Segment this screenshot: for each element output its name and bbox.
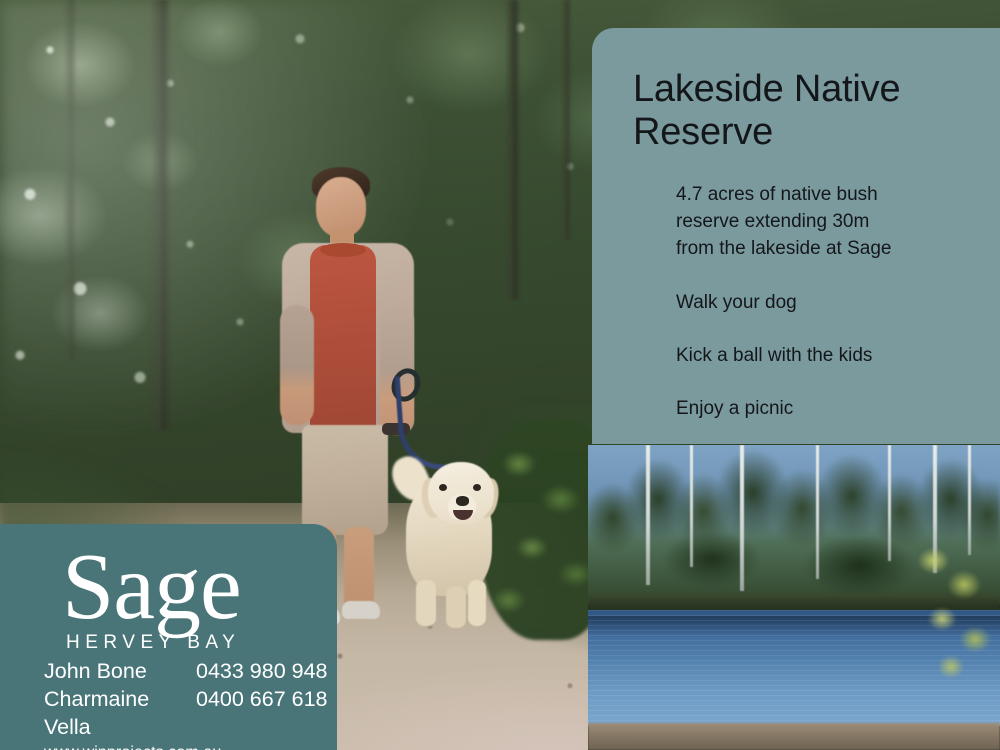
gum-tree-trunk: [646, 445, 650, 585]
dog-leg: [446, 586, 466, 628]
feature-item-description: 4.7 acres of native bush reserve extendi…: [676, 181, 936, 263]
feature-item-picnic: Enjoy a picnic: [676, 395, 936, 422]
gum-tree-trunk: [816, 445, 819, 579]
left-arm: [280, 305, 314, 425]
marketing-slide: Lakeside Native Reserve 4.7 acres of nat…: [0, 0, 1000, 750]
feature-list: 4.7 acres of native bush reserve extendi…: [633, 181, 1000, 423]
feature-item-walk-dog: Walk your dog: [676, 289, 936, 316]
right-shoe: [342, 601, 380, 619]
dog-leg: [468, 580, 486, 626]
gum-tree-trunk: [690, 445, 693, 567]
contact-details: John Bone 0433 980 948 Charmaine Vella 0…: [0, 658, 337, 750]
brand-logo: Sage HERVEY BAY: [0, 540, 337, 652]
golden-retriever-dog: [398, 440, 518, 630]
dog-leg: [416, 580, 436, 626]
dog-nose: [456, 496, 469, 506]
head: [316, 177, 366, 237]
brand-location: HERVEY BAY: [66, 632, 240, 654]
contact-name: John Bone: [44, 658, 196, 686]
lake-photo: [588, 445, 1000, 750]
shorts: [302, 425, 388, 535]
sandy-foreshore: [588, 723, 1000, 750]
contact-name: Charmaine Vella: [44, 686, 196, 742]
page-title: Lakeside Native Reserve: [633, 68, 913, 155]
gum-tree-trunk: [888, 445, 891, 561]
website-link[interactable]: www.winprojects.com.au: [44, 744, 337, 750]
dog-eye: [439, 484, 447, 491]
contact-row: John Bone 0433 980 948: [44, 658, 337, 686]
info-panel: Lakeside Native Reserve 4.7 acres of nat…: [592, 28, 1000, 444]
foreground-shrub: [896, 530, 1000, 701]
logo-contact-panel: Sage HERVEY BAY John Bone 0433 980 948 C…: [0, 524, 337, 750]
tree-trunk: [505, 0, 521, 300]
dog-eye: [473, 484, 481, 491]
brand-wordmark: Sage: [62, 540, 241, 634]
gum-tree-trunk: [740, 445, 744, 591]
contact-phone[interactable]: 0433 980 948: [196, 658, 328, 686]
tree-trunk: [560, 0, 572, 240]
feature-item-kick-ball: Kick a ball with the kids: [676, 342, 936, 369]
tshirt-collar: [320, 243, 366, 257]
contact-phone[interactable]: 0400 667 618: [196, 686, 328, 714]
contact-row: Charmaine Vella 0400 667 618: [44, 686, 337, 742]
